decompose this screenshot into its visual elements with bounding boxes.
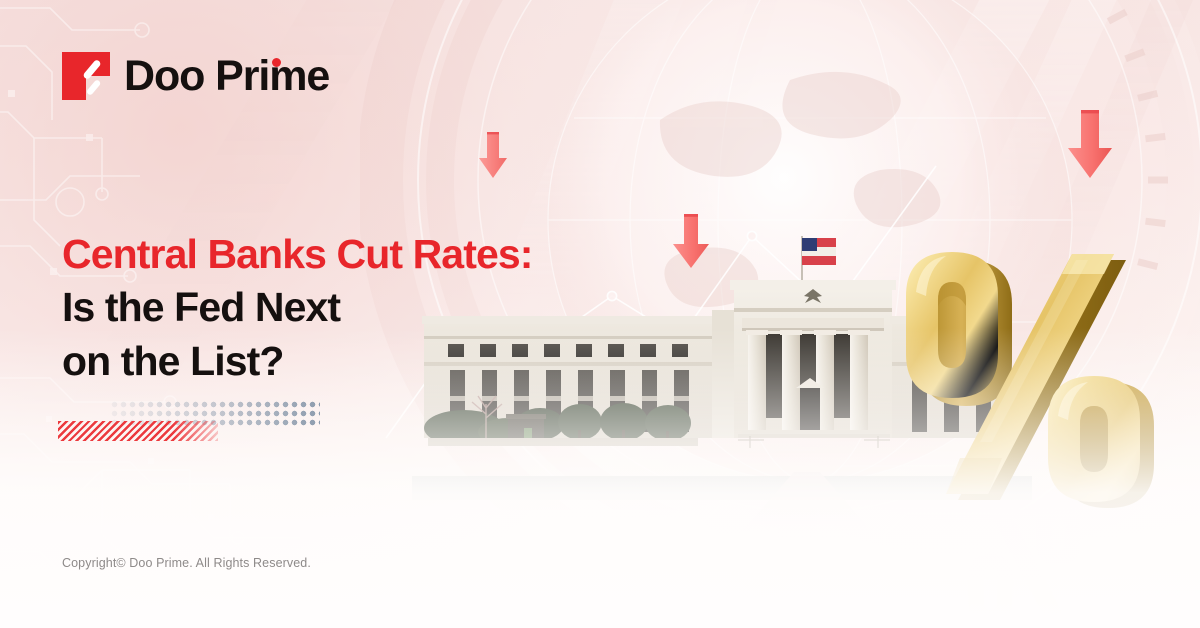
decor-bands: [58, 400, 328, 444]
gold-percent-reflection: [876, 500, 1176, 628]
brand-name-text: Doo Prime: [124, 52, 329, 100]
rate-cut-arrow-1: [478, 130, 508, 180]
headline-line-3: on the List?: [62, 335, 702, 388]
gold-percent-symbol: [876, 244, 1176, 512]
diagonal-stripe-band: [58, 421, 218, 441]
doo-prime-logo-mark: [62, 52, 110, 100]
copyright-notice: Copyright© Doo Prime. All Rights Reserve…: [62, 556, 311, 570]
rate-cut-arrow-3: [1066, 108, 1114, 180]
brand-logo[interactable]: Doo Prime: [62, 52, 329, 100]
brand-name: Doo Prime: [124, 55, 329, 98]
headline-line-1: Central Banks Cut Rates:: [62, 228, 702, 281]
headline-block: Central Banks Cut Rates: Is the Fed Next…: [62, 228, 702, 388]
headline-line-2: Is the Fed Next: [62, 281, 702, 334]
promo-banner: Doo Prime Central Banks Cut Rates: Is th…: [0, 0, 1200, 628]
logo-i-dot: [272, 58, 281, 67]
